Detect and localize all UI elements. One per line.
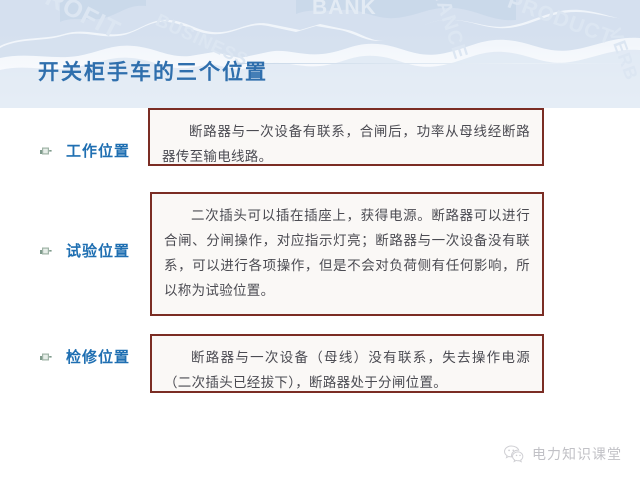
wechat-icon [503,444,525,464]
page-title: 开关柜手车的三个位置 [38,56,268,86]
position-description-box-2: 二次插头可以插在插座上，获得电源。断路器可以进行合闸、分闸操作，对应指示灯亮；断… [150,192,544,316]
position-description-text-2: 二次插头可以插在插座上，获得电源。断路器可以进行合闸、分闸操作，对应指示灯亮；断… [164,203,530,303]
position-description-box-3: 断路器与一次设备（母线）没有联系，失去操作电源（二次插头已经拔下），断路器处于分… [150,334,544,393]
header-background-band: PROFIT BUSINESS BANK FINANCE PRODUCT VER… [0,0,640,108]
position-label-1: 工作位置 [66,140,130,161]
footer-watermark: 电力知识课堂 [503,444,622,464]
position-label-3: 检修位置 [66,346,130,367]
position-description-box-1: 断路器与一次设备有联系，合闸后，功率从母线经断路器传至输电线路。 [148,108,544,166]
header-divider-rule [236,63,640,64]
bullet-marker-icon [40,352,52,363]
slide-canvas: PROFIT BUSINESS BANK FINANCE PRODUCT VER… [0,0,640,480]
position-description-text-3: 断路器与一次设备（母线）没有联系，失去操作电源（二次插头已经拔下），断路器处于分… [164,345,530,395]
position-description-text-1: 断路器与一次设备有联系，合闸后，功率从母线经断路器传至输电线路。 [162,119,530,169]
footer-watermark-text: 电力知识课堂 [532,444,622,464]
watermark-word-bank: BANK [312,0,377,20]
bullet-marker-icon [40,246,52,257]
bullet-marker-icon [40,146,52,157]
position-label-2: 试验位置 [66,240,130,261]
